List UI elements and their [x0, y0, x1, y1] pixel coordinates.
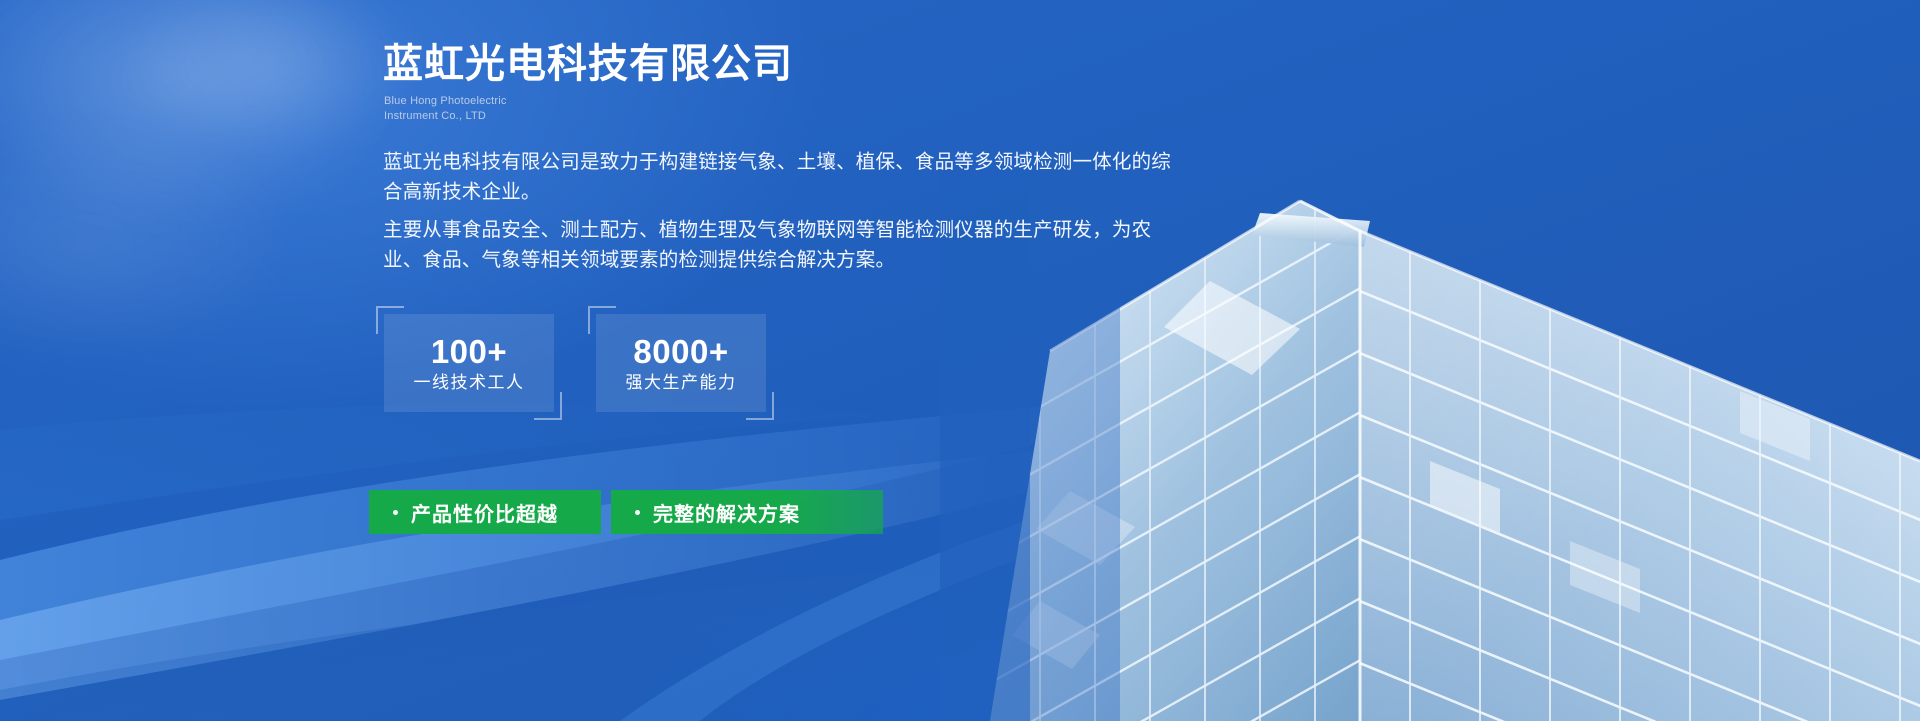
- stat-card-capacity: 8000+ 强大生产能力: [596, 314, 766, 412]
- feature-tag-label: 产品性价比超越: [411, 498, 558, 527]
- banner-hero: 蓝虹光电科技有限公司 Blue Hong Photoelectric Instr…: [0, 0, 1920, 721]
- stat-value: 8000+: [633, 335, 728, 368]
- bullet-dot-icon: [393, 510, 398, 515]
- banner-content: 蓝虹光电科技有限公司 Blue Hong Photoelectric Instr…: [383, 0, 1583, 721]
- intro-paragraph-1: 蓝虹光电科技有限公司是致力于构建链接气象、土壤、植保、食品等多领域检测一体化的综…: [383, 147, 1183, 207]
- feature-tags-group: 产品性价比超越 完整的解决方案: [369, 490, 883, 534]
- feature-tag-solution[interactable]: 完整的解决方案: [611, 490, 883, 534]
- stat-card-workers: 100+ 一线技术工人: [384, 314, 554, 412]
- intro-paragraph-2: 主要从事食品安全、测土配方、植物生理及气象物联网等智能检测仪器的生产研发，为农业…: [383, 215, 1183, 275]
- bullet-dot-icon: [635, 510, 640, 515]
- stat-value: 100+: [431, 335, 507, 368]
- brand-subtitle: Blue Hong Photoelectric Instrument Co., …: [384, 94, 507, 124]
- brand-subtitle-line1: Blue Hong Photoelectric: [384, 94, 507, 109]
- feature-tag-value[interactable]: 产品性价比超越: [369, 490, 601, 534]
- feature-tag-label: 完整的解决方案: [653, 498, 800, 527]
- stats-group: 100+ 一线技术工人 8000+ 强大生产能力: [384, 314, 766, 412]
- stat-label: 一线技术工人: [414, 374, 525, 391]
- brand-subtitle-line2: Instrument Co., LTD: [384, 109, 507, 124]
- stat-label: 强大生产能力: [626, 374, 737, 391]
- page-title: 蓝虹光电科技有限公司: [383, 40, 793, 88]
